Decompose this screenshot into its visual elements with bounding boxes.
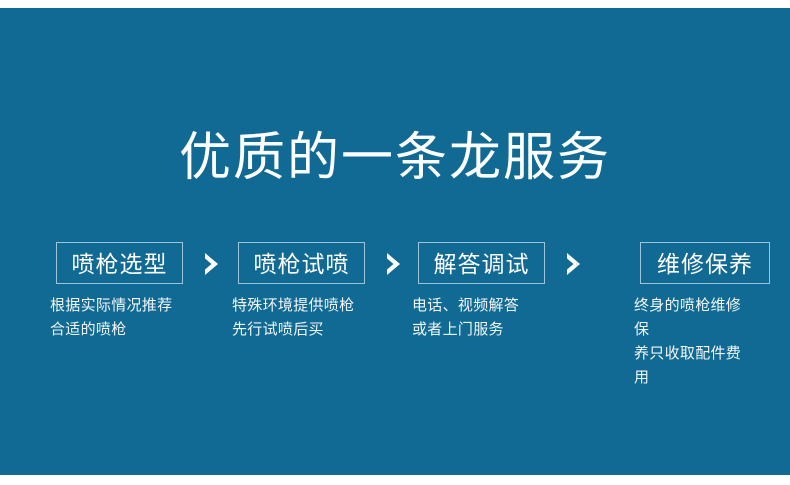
step-description-3: 电话、视频解答 或者上门服务 bbox=[412, 294, 519, 342]
step-item-3: 解答调试 电话、视频解答 或者上门服务 bbox=[412, 242, 598, 302]
chevron-right-icon bbox=[382, 251, 406, 277]
page-title: 优质的一条龙服务 bbox=[0, 127, 790, 189]
step-description-4: 终身的喷枪维修保 养只收取配件费用 bbox=[634, 294, 750, 390]
service-banner: 优质的一条龙服务 喷枪选型 根据实际情况推荐 合适的喷枪 喷枪试喷 特殊环境提供… bbox=[0, 8, 790, 475]
step-label-box-4[interactable]: 维修保养 bbox=[640, 242, 770, 284]
chevron-right-icon bbox=[562, 251, 586, 277]
service-steps: 喷枪选型 根据实际情况推荐 合适的喷枪 喷枪试喷 特殊环境提供喷枪 先行试喷后买… bbox=[40, 242, 750, 302]
step-description-1: 根据实际情况推荐 合适的喷枪 bbox=[50, 294, 172, 342]
step-label-box-1[interactable]: 喷枪选型 bbox=[56, 242, 183, 284]
step-item-2: 喷枪试喷 特殊环境提供喷枪 先行试喷后买 bbox=[230, 242, 412, 302]
step-label-box-3[interactable]: 解答调试 bbox=[418, 242, 545, 284]
step-item-1: 喷枪选型 根据实际情况推荐 合适的喷枪 bbox=[40, 242, 230, 302]
step-item-4: 维修保养 终身的喷枪维修保 养只收取配件费用 bbox=[598, 242, 750, 302]
step-label-box-2[interactable]: 喷枪试喷 bbox=[238, 242, 365, 284]
chevron-right-icon bbox=[200, 251, 224, 277]
step-description-2: 特殊环境提供喷枪 先行试喷后买 bbox=[232, 294, 354, 342]
